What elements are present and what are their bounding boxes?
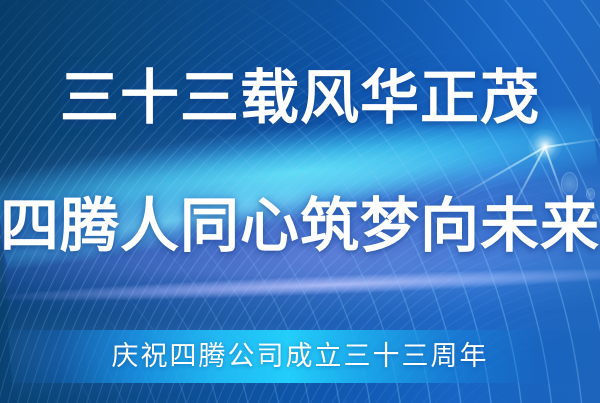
headline-line-1: 三十三载风华正茂	[0, 62, 600, 134]
subtitle-text: 庆祝四腾公司成立三十三周年	[0, 337, 600, 375]
anniversary-banner: 三十三载风华正茂 四腾人同心筑梦向未来 庆祝四腾公司成立三十三周年	[0, 0, 600, 403]
headline-line-2: 四腾人同心筑梦向未来	[0, 190, 600, 262]
